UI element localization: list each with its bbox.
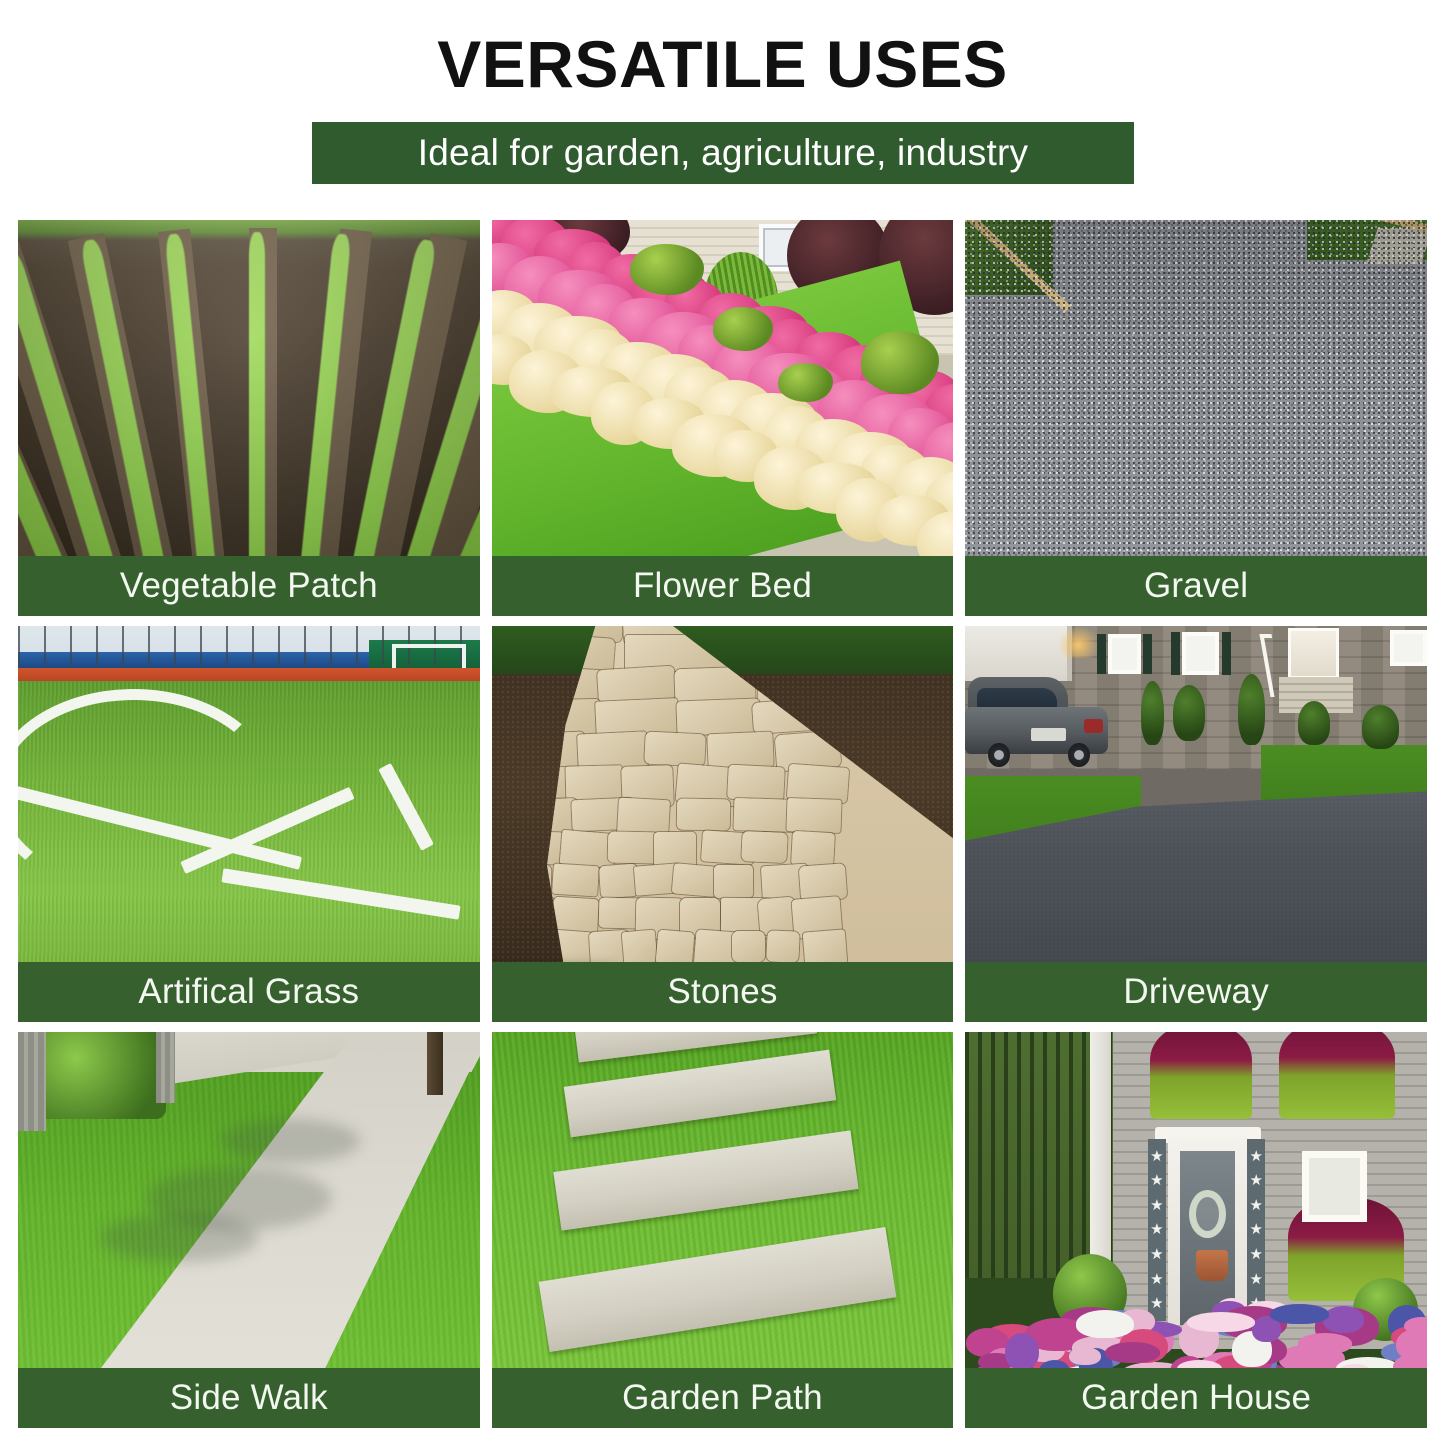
caption-label: Garden Path <box>622 1378 823 1418</box>
caption-bar: Vegetable Patch <box>18 556 480 616</box>
subtitle-banner: Ideal for garden, agriculture, industry <box>312 122 1134 184</box>
tile-garden-house[interactable]: ★★★★★★★ ★★★★★★★ Garden House <box>965 1032 1427 1428</box>
caption-bar: Driveway <box>965 962 1427 1022</box>
tile-side-walk[interactable]: Side Walk <box>18 1032 480 1428</box>
tile-stones[interactable]: Stones <box>492 626 954 1022</box>
caption-label: Stones <box>667 972 777 1012</box>
caption-label: Artifical Grass <box>138 972 359 1012</box>
star-shutter-left: ★★★★★★★ <box>1148 1139 1166 1321</box>
caption-bar: Stones <box>492 962 954 1022</box>
infographic-page: VERSATILE USES Ideal for garden, agricul… <box>0 0 1445 1445</box>
caption-bar: Gravel <box>965 556 1427 616</box>
caption-bar: Garden Path <box>492 1368 954 1428</box>
use-case-grid: Vegetable Patch Flower Bed <box>18 220 1427 1428</box>
caption-label: Flower Bed <box>633 566 812 606</box>
caption-label: Vegetable Patch <box>120 566 378 606</box>
caption-label: Side Walk <box>170 1378 328 1418</box>
star-shutter-right: ★★★★★★★ <box>1247 1139 1265 1321</box>
tile-driveway[interactable]: Driveway <box>965 626 1427 1022</box>
subtitle-text: Ideal for garden, agriculture, industry <box>418 132 1028 174</box>
caption-bar: Garden House <box>965 1368 1427 1428</box>
caption-bar: Side Walk <box>18 1368 480 1428</box>
caption-label: Gravel <box>1144 566 1248 606</box>
caption-bar: Flower Bed <box>492 556 954 616</box>
page-title: VERSATILE USES <box>0 30 1445 99</box>
tile-flower-bed[interactable]: Flower Bed <box>492 220 954 616</box>
tile-gravel[interactable]: Gravel <box>965 220 1427 616</box>
tile-garden-path[interactable]: Garden Path <box>492 1032 954 1428</box>
tile-vegetable-patch[interactable]: Vegetable Patch <box>18 220 480 616</box>
caption-bar: Artifical Grass <box>18 962 480 1022</box>
caption-label: Garden House <box>1081 1378 1311 1418</box>
tile-artifical-grass[interactable]: Artifical Grass <box>18 626 480 1022</box>
caption-label: Driveway <box>1123 972 1269 1012</box>
